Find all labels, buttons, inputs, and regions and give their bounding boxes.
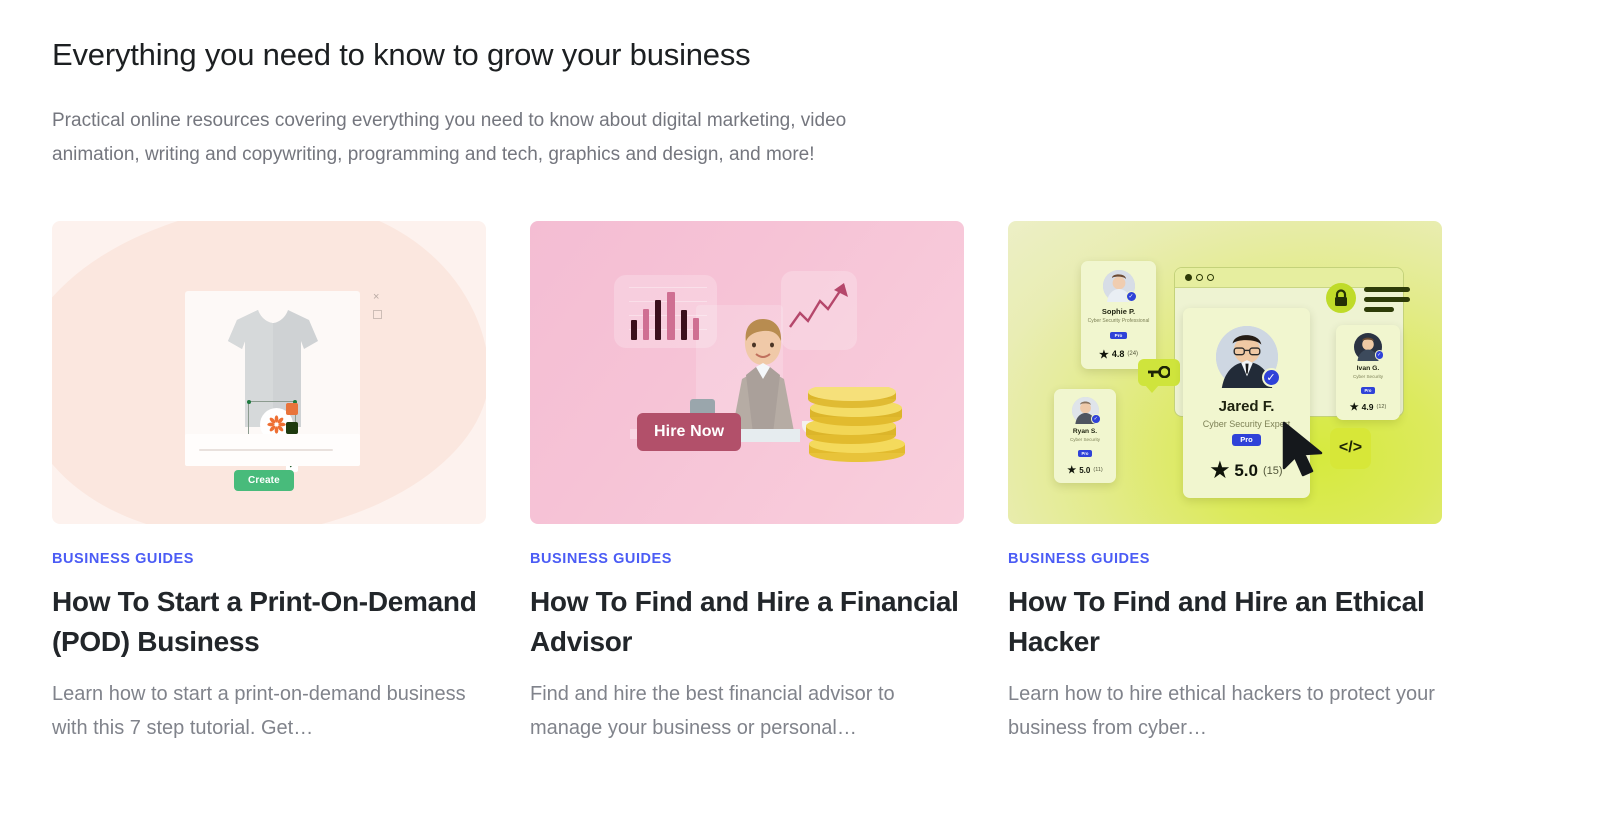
pro-badge: Pro — [1110, 332, 1128, 339]
guide-card-financial-advisor[interactable]: Hire Now BUSINESS GUIDES How To Find and… — [530, 221, 964, 746]
profile-name: Sophie P. — [1081, 307, 1156, 316]
avatar: ✓ — [1103, 270, 1135, 302]
card-excerpt: Learn how to hire ethical hackers to pro… — [1008, 678, 1442, 745]
card-title[interactable]: How To Find and Hire a Financial Advisor — [530, 582, 964, 662]
hire-now-badge[interactable]: Hire Now — [637, 413, 741, 451]
card-kicker[interactable]: BUSINESS GUIDES — [52, 551, 486, 567]
key-icon — [1148, 366, 1170, 378]
close-icon[interactable]: × — [373, 292, 379, 303]
code-badge: </> — [1330, 428, 1371, 469]
card-excerpt: Learn how to start a print-on-demand bus… — [52, 678, 486, 745]
avatar: ✓ — [1216, 326, 1278, 388]
profile-role: Cyber Security Professional — [1081, 318, 1156, 324]
star-icon: ★ — [1067, 465, 1076, 476]
profile-rating: ★ 4.9 (12) — [1336, 402, 1400, 413]
verified-badge-icon: ✓ — [1375, 350, 1385, 360]
pro-badge: Pro — [1361, 387, 1376, 394]
design-name-input[interactable] — [185, 434, 360, 466]
verified-badge-icon: ✓ — [1262, 368, 1281, 387]
guide-card-print-on-demand[interactable]: ✓ Create × BUSINESS GUIDES How To Start … — [52, 221, 486, 746]
mouse-cursor-icon — [1281, 421, 1327, 479]
profile-rating: ★ 5.0 (11) — [1054, 465, 1116, 476]
verified-badge-icon: ✓ — [1126, 291, 1137, 302]
profile-name: Ivan G. — [1336, 365, 1400, 372]
verified-badge-icon: ✓ — [1091, 414, 1101, 424]
window-dot-outline-1 — [1196, 274, 1203, 281]
profile-name: Ryan S. — [1054, 428, 1116, 435]
star-icon: ★ — [1210, 458, 1229, 483]
create-button[interactable]: Create — [234, 470, 294, 491]
page-title: Everything you need to know to grow your… — [52, 36, 1548, 73]
avatar: ✓ — [1072, 397, 1099, 424]
star-icon: ★ — [1350, 402, 1359, 413]
browser-titlebar — [1175, 268, 1403, 288]
card-excerpt: Find and hire the best financial advisor… — [530, 678, 964, 745]
window-dot-filled — [1185, 274, 1192, 281]
lock-badge — [1326, 283, 1356, 313]
window-dot-outline-2 — [1207, 274, 1214, 281]
guide-thumbnail-financial-advisor[interactable]: Hire Now — [530, 221, 964, 524]
card-title[interactable]: How To Start a Print-On-Demand (POD) Bus… — [52, 582, 486, 662]
avatar: ✓ — [1354, 333, 1382, 361]
gold-coins-stack — [805, 387, 909, 463]
page-subtitle: Practical online resources covering ever… — [52, 104, 922, 172]
guide-thumbnail-print-on-demand[interactable]: ✓ Create × — [52, 221, 486, 524]
handle-top-left[interactable] — [247, 400, 251, 404]
content-lines-graphic — [1364, 287, 1410, 317]
pro-badge: Pro — [1232, 434, 1261, 446]
key-chat-bubble — [1138, 359, 1180, 386]
profile-name: Jared F. — [1183, 398, 1310, 415]
square-tool-icon[interactable] — [373, 310, 382, 319]
profile-role: Cyber Security — [1336, 374, 1400, 379]
profile-role: Cyber Security — [1054, 437, 1116, 442]
guide-thumbnail-ethical-hacker[interactable]: ✓ Sophie P. Cyber Security Professional … — [1008, 221, 1442, 524]
card-kicker[interactable]: BUSINESS GUIDES — [1008, 551, 1442, 567]
card-kicker[interactable]: BUSINESS GUIDES — [530, 551, 964, 567]
asterisk-icon — [267, 415, 286, 434]
guide-card-ethical-hacker[interactable]: ✓ Sophie P. Cyber Security Professional … — [1008, 221, 1442, 746]
color-swatch-dark-green[interactable] — [286, 422, 298, 434]
page-root: Everything you need to know to grow your… — [0, 0, 1600, 835]
star-icon: ★ — [1099, 348, 1109, 361]
bar-chart-graphic — [629, 283, 707, 340]
card-title[interactable]: How To Find and Hire an Ethical Hacker — [1008, 582, 1442, 662]
lock-icon — [1333, 289, 1349, 307]
profile-card-ivan[interactable]: ✓ Ivan G. Cyber Security Pro ★ 4.9 (12) — [1336, 325, 1400, 420]
profile-card-sophie[interactable]: ✓ Sophie P. Cyber Security Professional … — [1081, 261, 1156, 369]
color-swatch-orange[interactable] — [286, 403, 298, 415]
guides-card-grid: ✓ Create × BUSINESS GUIDES How To Start … — [52, 221, 1548, 746]
profile-card-ryan[interactable]: ✓ Ryan S. Cyber Security Pro ★ 5.0 (11) — [1054, 389, 1116, 483]
pro-badge: Pro — [1078, 450, 1093, 457]
